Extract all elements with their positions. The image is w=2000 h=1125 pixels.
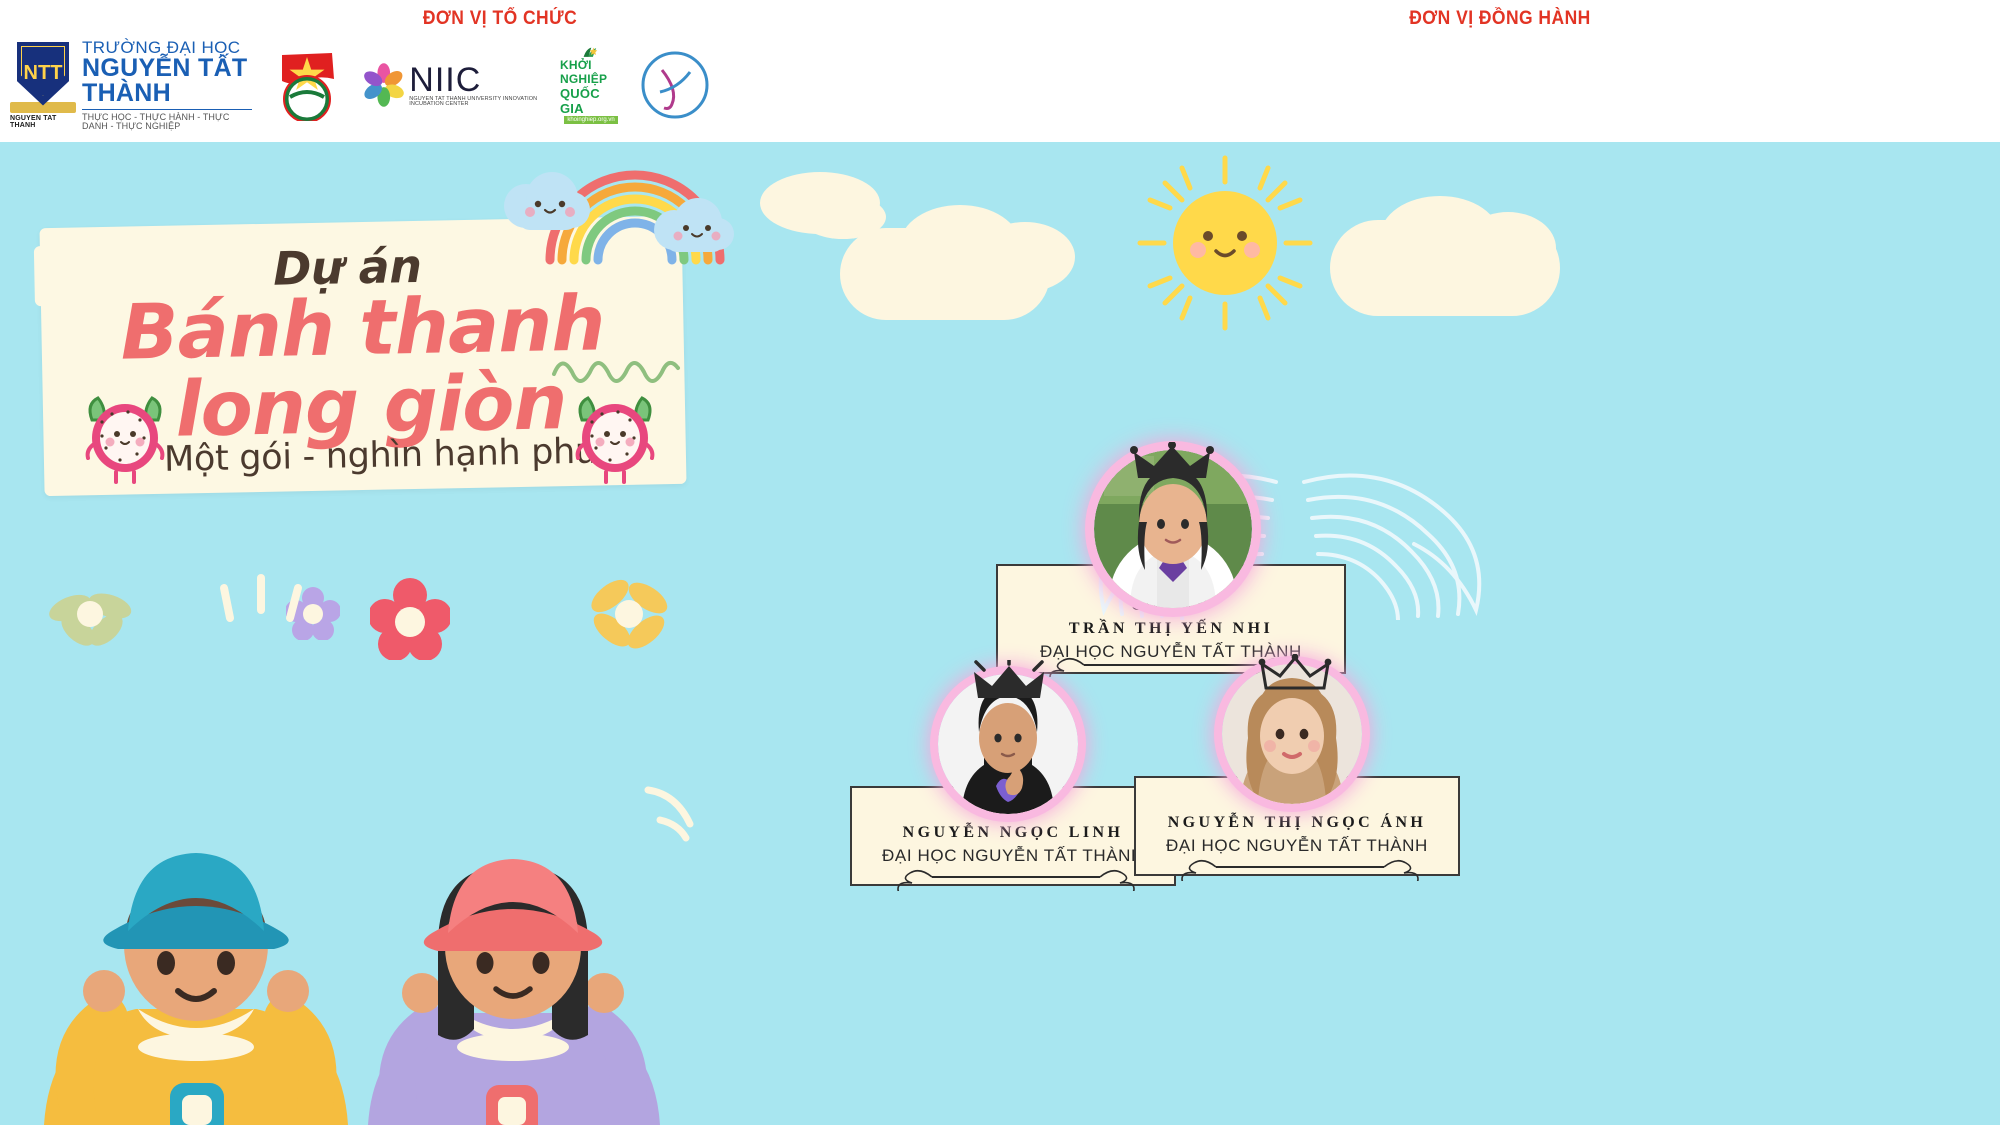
khoi-nghiep-line-1: KHỞI NGHIỆP <box>560 58 622 86</box>
ntt-shield-icon: NTT <box>17 42 69 106</box>
dragonfruit-mascot-right <box>572 386 658 490</box>
member-anh-crown-icon <box>1258 654 1332 694</box>
member-anh-name: NGUYỄN THỊ NGỌC ÁNH <box>1136 814 1458 832</box>
member-linh-crown-icon <box>968 660 1050 704</box>
niic-main-text: NIIC <box>409 63 542 97</box>
girl-figure <box>368 859 660 1125</box>
partner-title: ĐƠN VỊ ĐỒNG HÀNH <box>1040 8 1960 30</box>
organizer-logo-row: NTT NGUYEN TAT THANH TRƯỜNG ĐẠI HỌC NGUY… <box>10 45 710 125</box>
khoi-nghiep-line-2: QUỐC GIA <box>560 86 622 116</box>
logo-nguyen-tat-thanh-university: NTT NGUYEN TAT THANH TRƯỜNG ĐẠI HỌC NGUY… <box>10 39 252 131</box>
sponsor-header-band: ĐƠN VỊ TỔ CHỨC NTT NGUYEN TAT THANH TRƯỜ… <box>0 0 2000 142</box>
sun-icon <box>1130 148 1320 338</box>
ntt-shield-text: NTT <box>24 62 63 85</box>
partner-column: ĐƠN VỊ ĐỒNG HÀNH IP GROUP CÂU LẠC BỘ DOA… <box>1000 0 2000 142</box>
boy-figure <box>44 853 348 1125</box>
kawaii-cloud-left-icon <box>500 162 592 238</box>
flower-decor-red <box>370 578 450 660</box>
ntt-shield-caption: NGUYEN TAT THANH <box>10 115 76 129</box>
niic-flower-icon <box>362 54 406 116</box>
organizer-title: ĐƠN VỊ TỔ CHỨC <box>40 8 960 30</box>
kawaii-cloud-right-icon <box>648 190 740 260</box>
logo-niic: NIIC NGUYEN TAT THANH UNIVERSITY INNOVAT… <box>362 54 542 116</box>
cloud-decor-2c <box>975 222 1075 292</box>
sparkle-decor-icon <box>216 572 306 642</box>
logo-khoi-nghiep-quoc-gia: KHỞI NGHIỆP QUỐC GIA khoinghiep.org.vn <box>560 46 622 124</box>
member-advisor-name: TRẦN THỊ YẾN NHI <box>998 620 1344 638</box>
niic-sub-text: NGUYEN TAT THANH UNIVERSITY INNOVATION I… <box>409 97 542 108</box>
khoi-nghiep-star-icon <box>560 46 622 58</box>
children-illustration <box>20 795 720 1125</box>
member-anh-divider-icon <box>1136 857 1458 886</box>
member-anh[interactable]: NGUYỄN THỊ NGỌC ÁNH ĐẠI HỌC NGUYỄN TẤT T… <box>1124 660 1464 910</box>
ntt-wordmark: TRƯỜNG ĐẠI HỌC NGUYỄN TẤT THÀNH THỰC HỌC… <box>82 39 252 131</box>
member-advisor-crown-icon <box>1130 442 1214 484</box>
member-anh-school: ĐẠI HỌC NGUYỄN TẤT THÀNH <box>1136 836 1458 856</box>
logo-doan-thanh-nien <box>270 49 344 121</box>
logo-partner-circle <box>640 50 710 120</box>
flower-decor-olive <box>48 578 140 650</box>
cloud-decor-3c <box>1460 212 1556 284</box>
ntt-line-3: THỰC HỌC - THỰC HÀNH - THỰC DANH - THỰC … <box>82 109 252 131</box>
niic-wordmark: NIIC NGUYEN TAT THANH UNIVERSITY INNOVAT… <box>409 63 542 108</box>
flower-decor-yellow <box>582 572 676 658</box>
organizer-column: ĐƠN VỊ TỔ CHỨC NTT NGUYEN TAT THANH TRƯỜ… <box>0 0 1000 142</box>
ntt-line-2: NGUYỄN TẤT THÀNH <box>82 56 252 106</box>
ntt-shield-group: NTT NGUYEN TAT THANH <box>10 42 76 129</box>
khoi-nghiep-line-3: khoinghiep.org.vn <box>564 116 617 124</box>
poster-root: ĐƠN VỊ TỔ CHỨC NTT NGUYEN TAT THANH TRƯỜ… <box>0 0 2000 1125</box>
member-advisor[interactable]: CỐ VẤN TRẦN THỊ YẾN NHI ĐẠI HỌC NGUYỄN T… <box>980 440 1600 680</box>
dragonfruit-mascot-left <box>82 386 168 490</box>
angel-wings-icon <box>980 460 1600 620</box>
